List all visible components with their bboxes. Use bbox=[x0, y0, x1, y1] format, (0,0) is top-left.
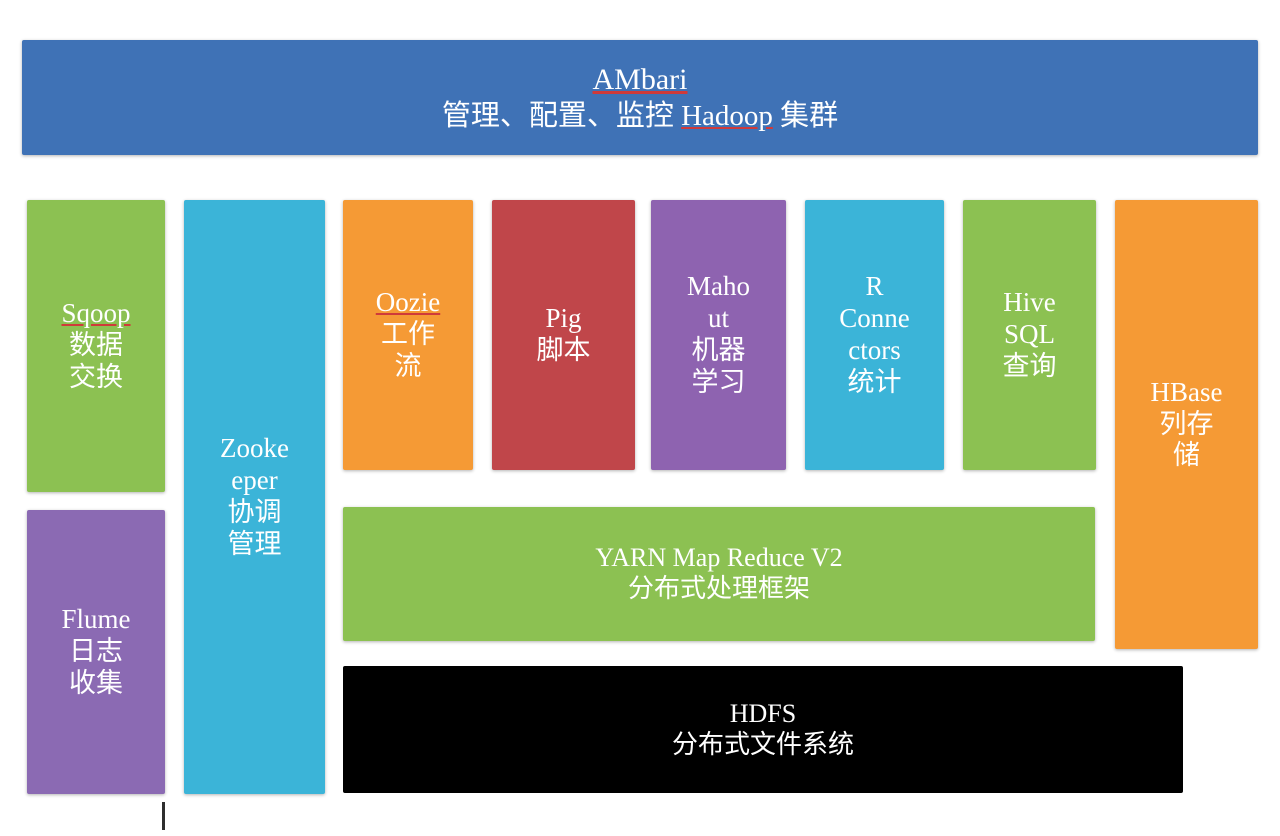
zookeeper-line-3: 协调 bbox=[228, 497, 282, 529]
diagram-canvas: AMbari 管理、配置、监控 Hadoop 集群 Sqoop 数据 交换 Fl… bbox=[0, 0, 1280, 836]
sqoop-line-3: 交换 bbox=[69, 362, 123, 394]
cursor-tick-mark bbox=[162, 802, 165, 830]
hive-line-1: Hive bbox=[1003, 287, 1055, 319]
flume-line-3: 收集 bbox=[69, 668, 123, 700]
rconnectors-line-3: ctors bbox=[848, 335, 900, 367]
hbase-line-1: HBase bbox=[1151, 377, 1223, 409]
block-flume: Flume 日志 收集 bbox=[27, 510, 165, 794]
block-ambari: AMbari 管理、配置、监控 Hadoop 集群 bbox=[22, 40, 1258, 155]
ambari-subtitle: 管理、配置、监控 Hadoop 集群 bbox=[442, 99, 838, 133]
oozie-line-2: 工作 bbox=[381, 319, 435, 351]
sqoop-line-1: Sqoop bbox=[61, 298, 130, 330]
mahout-line-3: 机器 bbox=[692, 335, 746, 367]
block-hbase: HBase 列存 储 bbox=[1115, 200, 1258, 649]
hdfs-line-1: HDFS bbox=[730, 699, 796, 730]
hdfs-line-2: 分布式文件系统 bbox=[672, 730, 854, 761]
block-sqoop: Sqoop 数据 交换 bbox=[27, 200, 165, 492]
yarn-line-2: 分布式处理框架 bbox=[628, 574, 810, 605]
mahout-line-4: 学习 bbox=[692, 367, 746, 399]
hbase-line-3: 储 bbox=[1173, 440, 1200, 472]
flume-line-2: 日志 bbox=[69, 636, 123, 668]
ambari-subtitle-post: 集群 bbox=[773, 100, 838, 132]
block-hive: Hive SQL 查询 bbox=[963, 200, 1096, 470]
block-oozie: Oozie 工作 流 bbox=[343, 200, 473, 470]
ambari-subtitle-keyword: Hadoop bbox=[681, 100, 773, 132]
yarn-line-1: YARN Map Reduce V2 bbox=[595, 543, 842, 574]
block-pig: Pig 脚本 bbox=[492, 200, 635, 470]
flume-line-1: Flume bbox=[61, 604, 130, 636]
zookeeper-line-2: eper bbox=[231, 465, 277, 497]
block-r-connectors: R Conne ctors 统计 bbox=[805, 200, 944, 470]
ambari-subtitle-pre: 管理、配置、监控 bbox=[442, 100, 681, 132]
oozie-line-1: Oozie bbox=[376, 287, 440, 319]
block-hdfs: HDFS 分布式文件系统 bbox=[343, 666, 1183, 793]
hive-line-3: 查询 bbox=[1003, 351, 1057, 383]
sqoop-line-2: 数据 bbox=[69, 330, 123, 362]
oozie-line-3: 流 bbox=[395, 351, 422, 383]
zookeeper-line-4: 管理 bbox=[228, 529, 282, 561]
rconnectors-line-2: Conne bbox=[839, 303, 910, 335]
rconnectors-line-4: 统计 bbox=[848, 367, 902, 399]
mahout-line-1: Maho bbox=[687, 271, 750, 303]
hbase-line-2: 列存 bbox=[1160, 409, 1214, 441]
pig-line-1: Pig bbox=[545, 303, 581, 335]
ambari-title: AMbari bbox=[593, 62, 688, 97]
block-zookeeper: Zooke eper 协调 管理 bbox=[184, 200, 325, 794]
block-yarn: YARN Map Reduce V2 分布式处理框架 bbox=[343, 507, 1095, 641]
pig-line-2: 脚本 bbox=[537, 335, 591, 367]
mahout-line-2: ut bbox=[708, 303, 729, 335]
hive-line-2: SQL bbox=[1004, 319, 1055, 351]
block-mahout: Maho ut 机器 学习 bbox=[651, 200, 786, 470]
rconnectors-line-1: R bbox=[865, 271, 883, 303]
zookeeper-line-1: Zooke bbox=[220, 433, 289, 465]
